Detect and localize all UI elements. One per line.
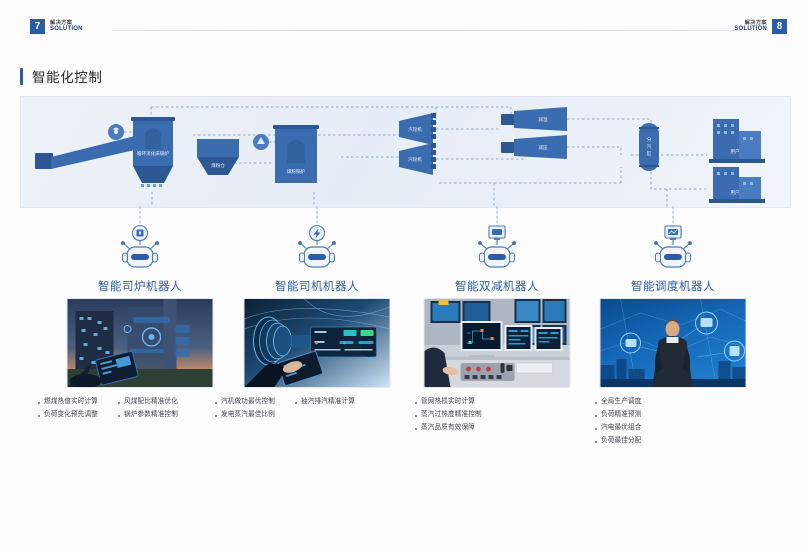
svg-text:分: 分 bbox=[647, 136, 652, 143]
list-item: 蒸汽过热度精准控制 bbox=[414, 409, 534, 422]
header-right-brand: 解决方案 SOLUTION 8 bbox=[734, 19, 787, 34]
monitor-icon bbox=[489, 226, 505, 240]
page-title-text: 智能化控制 bbox=[32, 66, 103, 86]
list-item: 汽机做功最优控制 bbox=[214, 396, 294, 409]
robot-head-icon bbox=[112, 224, 168, 274]
robot-head-icon bbox=[645, 224, 701, 274]
list-item: 全局生产调度 bbox=[594, 396, 704, 409]
svg-text:煤粉仓: 煤粉仓 bbox=[211, 162, 225, 169]
list-item: 发电蒸汽最佳比例 bbox=[214, 409, 294, 422]
svg-text:用户: 用户 bbox=[730, 189, 739, 196]
feature-bullets: 全局生产调度 负荷精准预测 汽电最优组合 负荷最佳分配 bbox=[594, 396, 704, 447]
process-flow-diagram: .f{fill:#3b6cb0} .fd{fill:#2d5793} .fl{f… bbox=[20, 96, 791, 208]
bullet-list: 燃煤热值实时计算 风煤配比精准优化 负荷变化预先调整 锅炉参数精准控制 bbox=[37, 396, 197, 422]
list-item: 管网热损实时计算 bbox=[414, 396, 534, 409]
header-right-number: 8 bbox=[772, 19, 787, 34]
list-item: 汽电最优组合 bbox=[594, 422, 704, 435]
chart-monitor-icon bbox=[665, 226, 681, 240]
power-plant-tablet-photo bbox=[67, 298, 214, 388]
header-right-text: 解决方案 SOLUTION bbox=[734, 21, 767, 33]
feature-bullets: 管网热损实时计算 蒸汽过热度精准控制 蒸汽品质有效保障 bbox=[414, 396, 534, 435]
list-item: 负荷变化预先调整 bbox=[37, 409, 117, 422]
bullet-list: 汽机做功最优控制 抽汽排汽精准计算 发电蒸汽最佳比例 bbox=[214, 396, 374, 422]
robot-label: 智能司机机器人 bbox=[222, 278, 412, 294]
footer-divider bbox=[0, 521, 809, 522]
header-right-en: SOLUTION bbox=[734, 26, 767, 32]
header-left-en: SOLUTION bbox=[50, 26, 83, 32]
slide-page: 7 解决方案 SOLUTION 解决方案 SOLUTION 8 智能化控制 .f… bbox=[0, 0, 809, 550]
robot-label: 智能调度机器人 bbox=[578, 278, 768, 294]
list-item: 风煤配比精准优化 bbox=[117, 396, 197, 409]
svg-text:用户: 用户 bbox=[730, 148, 739, 155]
title-accent-bar bbox=[20, 68, 23, 85]
list-item: 负荷最佳分配 bbox=[594, 435, 704, 448]
executive-dashboard-photo bbox=[600, 298, 747, 388]
header-divider bbox=[112, 30, 740, 31]
robot-columns: 智能司炉机器人 bbox=[0, 206, 809, 466]
robot-label: 智能司炉机器人 bbox=[45, 278, 235, 294]
slide-header: 7 解决方案 SOLUTION 解决方案 SOLUTION 8 bbox=[0, 0, 809, 48]
svg-text:汽: 汽 bbox=[647, 143, 652, 149]
header-left-number: 7 bbox=[30, 19, 45, 34]
list-item: 抽汽排汽精准计算 bbox=[294, 396, 374, 409]
turbine-tablet-photo bbox=[244, 298, 391, 388]
svg-text:汽轮机: 汽轮机 bbox=[408, 126, 422, 133]
list-item: 蒸汽品质有效保障 bbox=[414, 422, 534, 435]
svg-text:汽轮机: 汽轮机 bbox=[408, 156, 422, 163]
robot-label: 智能双减机器人 bbox=[402, 278, 592, 294]
feature-bullets: 燃煤热值实时计算 风煤配比精准优化 负荷变化预先调整 锅炉参数精准控制 bbox=[37, 396, 197, 422]
control-room-photo bbox=[424, 298, 571, 388]
svg-text:煤粉锅炉: 煤粉锅炉 bbox=[287, 168, 306, 175]
list-item: 负荷精准预测 bbox=[594, 409, 704, 422]
boiler-flame-icon bbox=[137, 230, 144, 237]
robot-head-icon bbox=[289, 224, 345, 274]
svg-text:缸: 缸 bbox=[647, 150, 652, 156]
list-item: 燃煤热值实时计算 bbox=[37, 396, 117, 409]
list-item: 锅炉参数精准控制 bbox=[117, 409, 197, 422]
bullet-list: 管网热损实时计算 蒸汽过热度精准控制 蒸汽品质有效保障 bbox=[414, 396, 534, 435]
svg-text:减温: 减温 bbox=[538, 116, 548, 123]
svg-text:循环流化床锅炉: 循环流化床锅炉 bbox=[137, 150, 170, 157]
bullet-list: 全局生产调度 负荷精准预测 汽电最优组合 负荷最佳分配 bbox=[594, 396, 704, 447]
header-left-brand: 7 解决方案 SOLUTION bbox=[30, 19, 83, 34]
feature-bullets: 汽机做功最优控制 抽汽排汽精准计算 发电蒸汽最佳比例 bbox=[214, 396, 374, 422]
robot-head-icon bbox=[469, 224, 525, 274]
svg-text:减压: 减压 bbox=[538, 144, 548, 151]
header-left-text: 解决方案 SOLUTION bbox=[50, 21, 83, 33]
page-title: 智能化控制 bbox=[20, 66, 103, 86]
